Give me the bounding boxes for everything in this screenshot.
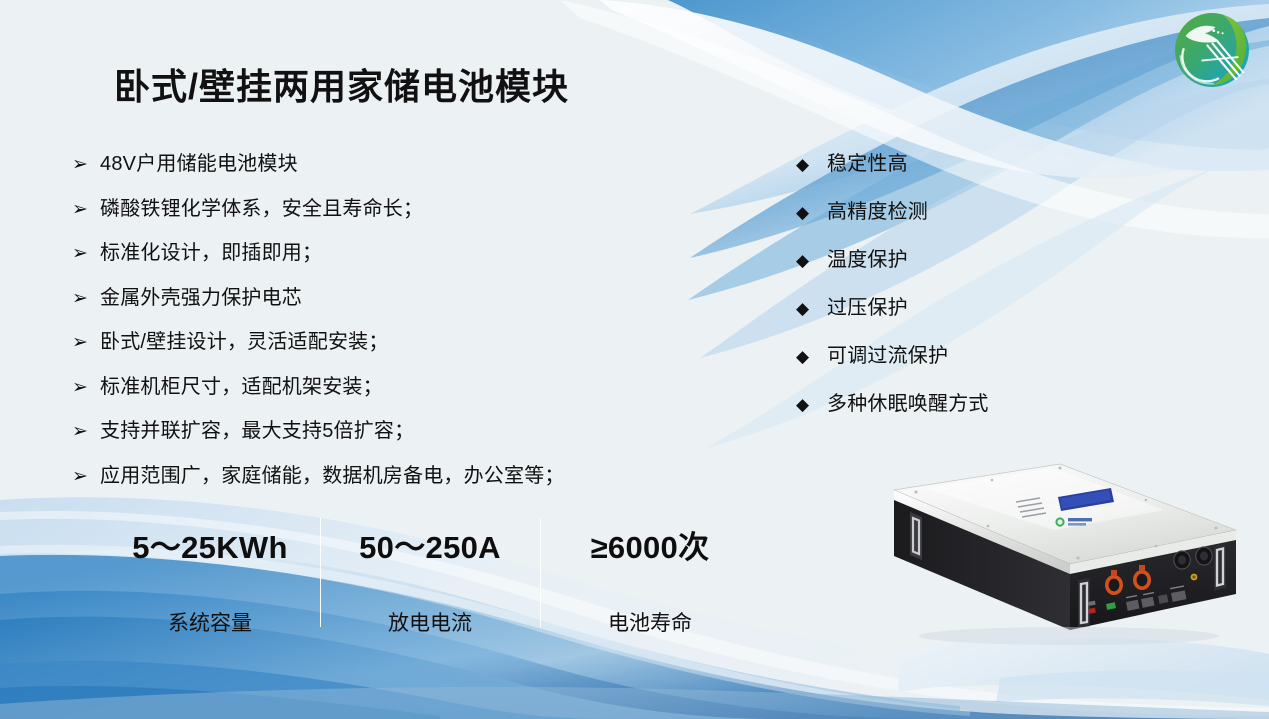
list-item-label: 标准机柜尺寸，适配机架安装； (100, 375, 383, 400)
list-item: ➢ 磷酸铁锂化学体系，安全且寿命长； (72, 197, 732, 222)
list-item: ➢ 标准机柜尺寸，适配机架安装； (72, 375, 732, 400)
list-item-label: 多种休眠唤醒方式 (827, 392, 989, 417)
list-item-label: 应用范围广，家庭储能，数据机房备电，办公室等； (100, 464, 565, 489)
page-title: 卧式/壁挂两用家储电池模块 (114, 58, 569, 110)
diamond-bullet-icon: ◆ (796, 200, 827, 225)
arrow-bullet-icon: ➢ (72, 375, 100, 400)
list-item: ➢ 金属外壳强力保护电芯 (72, 286, 732, 311)
stat-value: 50～250A (359, 522, 501, 567)
features-right-column: ◆ 稳定性高 ◆ 高精度检测 ◆ 温度保护 ◆ 过压保护 ◆ 可调过流保护 ◆ … (796, 152, 1126, 440)
diamond-bullet-icon: ◆ (796, 152, 827, 177)
stat-discharge-current: 50～250A 放电电流 (320, 515, 540, 625)
stat-value: ≥6000次 (591, 522, 710, 567)
list-item: ◆ 高精度检测 (796, 200, 1126, 225)
diamond-bullet-icon: ◆ (796, 344, 827, 369)
list-item-label: 磷酸铁锂化学体系，安全且寿命长； (100, 197, 423, 222)
company-logo (1168, 6, 1256, 94)
list-item: ◆ 多种休眠唤醒方式 (796, 392, 1126, 417)
list-item-label: 金属外壳强力保护电芯 (100, 286, 302, 311)
battery-module-illustration (864, 452, 1256, 660)
arrow-bullet-icon: ➢ (72, 197, 100, 222)
list-item: ➢ 卧式/壁挂设计，灵活适配安装； (72, 330, 732, 355)
arrow-bullet-icon: ➢ (72, 152, 100, 177)
list-item-label: 48V户用储能电池模块 (100, 152, 298, 177)
arrow-bullet-icon: ➢ (72, 464, 100, 489)
leaf-emblem-icon (1168, 6, 1256, 94)
product-photo (864, 452, 1256, 660)
list-item-label: 稳定性高 (827, 152, 908, 177)
list-item-label: 过压保护 (827, 296, 908, 321)
list-item-label: 支持并联扩容，最大支持5倍扩容； (100, 419, 414, 444)
list-item-label: 卧式/壁挂设计，灵活适配安装； (100, 330, 389, 355)
list-item: ◆ 稳定性高 (796, 152, 1126, 177)
arrow-bullet-icon: ➢ (72, 330, 100, 355)
arrow-bullet-icon: ➢ (72, 241, 100, 266)
list-item-label: 可调过流保护 (827, 344, 948, 369)
list-item: ➢ 48V户用储能电池模块 (72, 152, 732, 177)
list-item: ◆ 过压保护 (796, 296, 1126, 321)
list-item: ➢ 支持并联扩容，最大支持5倍扩容； (72, 419, 732, 444)
stat-cycle-life: ≥6000次 电池寿命 (540, 515, 760, 625)
stat-label: 系统容量 (168, 607, 252, 637)
list-item-label: 温度保护 (827, 248, 908, 273)
diamond-bullet-icon: ◆ (796, 392, 827, 417)
list-item-label: 高精度检测 (827, 200, 928, 225)
arrow-bullet-icon: ➢ (72, 419, 100, 444)
list-item-label: 标准化设计，即插即用； (100, 241, 322, 266)
stat-label: 放电电流 (388, 607, 472, 637)
list-item: ➢ 应用范围广，家庭储能，数据机房备电，办公室等； (72, 464, 732, 489)
list-item: ◆ 可调过流保护 (796, 344, 1126, 369)
slide-canvas: 卧式/壁挂两用家储电池模块 ➢ 48V户用储能电池模块 ➢ 磷酸铁锂化学体系，安… (0, 0, 1269, 719)
stats-row: 5～25KWh 系统容量 50～250A 放电电流 ≥6000次 电池寿命 (100, 515, 760, 625)
features-left-column: ➢ 48V户用储能电池模块 ➢ 磷酸铁锂化学体系，安全且寿命长； ➢ 标准化设计… (72, 152, 732, 508)
list-item: ◆ 温度保护 (796, 248, 1126, 273)
stat-label: 电池寿命 (608, 607, 692, 637)
arrow-bullet-icon: ➢ (72, 286, 100, 311)
list-item: ➢ 标准化设计，即插即用； (72, 241, 732, 266)
diamond-bullet-icon: ◆ (796, 296, 827, 321)
diamond-bullet-icon: ◆ (796, 248, 827, 273)
stat-capacity: 5～25KWh 系统容量 (100, 515, 320, 625)
stat-value: 5～25KWh (132, 522, 287, 567)
